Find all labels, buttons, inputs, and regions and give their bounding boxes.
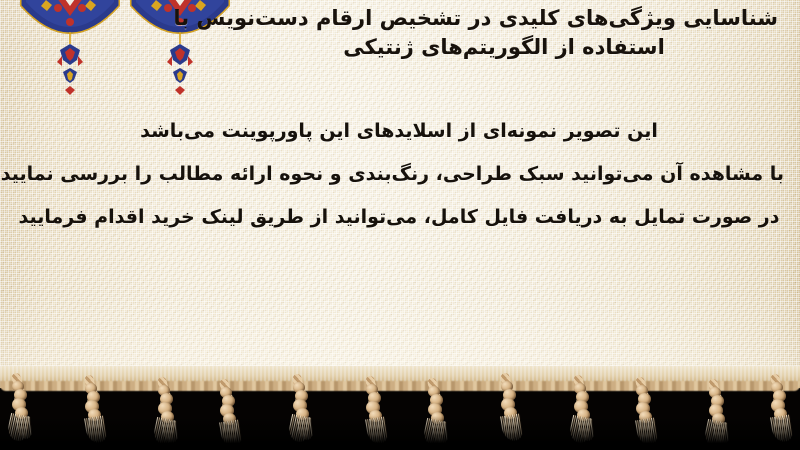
carpet-knotted-fringe bbox=[0, 366, 800, 450]
fringe-tassel bbox=[417, 384, 463, 450]
slide-title: شناسایی ویژگی‌های کلیدی در تشخیص ارقام د… bbox=[230, 4, 778, 62]
slide-body: این تصویر نمونه‌ای از اسلایدهای این پاور… bbox=[14, 110, 784, 239]
fringe-tassel bbox=[147, 383, 193, 449]
fringe-tassel bbox=[282, 380, 328, 446]
body-line-2: با مشاهده آن می‌توانید سبک طراحی، رنگ‌بن… bbox=[14, 153, 784, 196]
fringe-tassel bbox=[355, 382, 401, 448]
slide-canvas: شناسایی ویژگی‌های کلیدی در تشخیص ارقام د… bbox=[0, 0, 800, 450]
fringe-tassel bbox=[563, 381, 609, 447]
fringe-tassel bbox=[74, 381, 120, 447]
fringe-tassel bbox=[625, 383, 671, 449]
fringe-tassel bbox=[698, 385, 744, 450]
fringe-tassel bbox=[1, 379, 47, 445]
fringe-tassel bbox=[490, 379, 536, 445]
title-line-2: استفاده از الگوریتم‌های ژنتیکی bbox=[230, 33, 778, 62]
title-line-1: شناسایی ویژگی‌های کلیدی در تشخیص ارقام د… bbox=[230, 4, 778, 33]
fringe-tassel bbox=[209, 385, 255, 450]
fringe-tassel bbox=[760, 380, 800, 446]
body-line-1: این تصویر نمونه‌ای از اسلایدهای این پاور… bbox=[14, 110, 784, 153]
body-line-3: در صورت تمایل به دریافت فایل کامل، می‌تو… bbox=[14, 196, 784, 239]
